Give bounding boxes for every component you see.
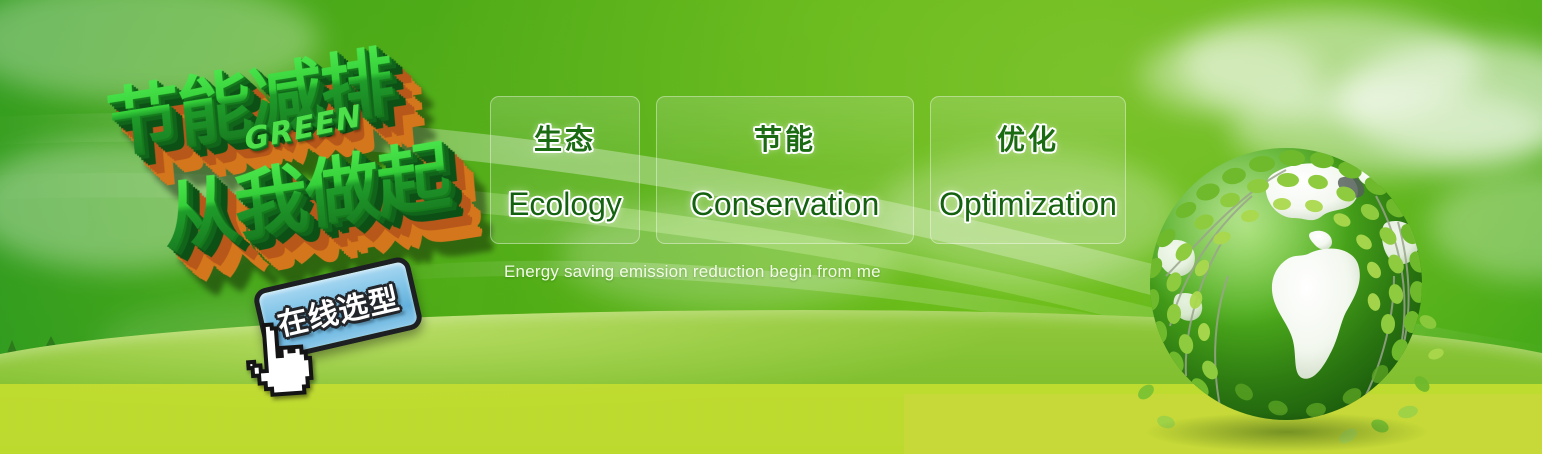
feature-card-cn-label: 生态 xyxy=(534,118,596,158)
feature-card-conservation[interactable]: 节能 Conservation xyxy=(656,96,914,244)
globe-icon xyxy=(1126,126,1446,446)
leafy-green-globe xyxy=(1126,126,1446,446)
feature-card-en-label: Conservation xyxy=(691,186,880,223)
feature-card-list: 生态 Ecology 节能 Conservation 优化 Optimizati… xyxy=(490,96,1126,244)
pointing-hand-cursor-icon xyxy=(241,316,321,403)
feature-card-cn-label: 节能 xyxy=(754,118,816,158)
feature-card-en-label: Ecology xyxy=(508,186,622,223)
eco-banner: 节能减排 GREEN 从我做起 在线选型 生态 Ecology 节能 Conse… xyxy=(0,0,1542,454)
banner-tagline: Energy saving emission reduction begin f… xyxy=(504,262,881,282)
feature-card-cn-label: 优化 xyxy=(997,118,1059,158)
globe-shadow xyxy=(1144,412,1430,452)
feature-card-ecology[interactable]: 生态 Ecology xyxy=(490,96,640,244)
headline-3d-art: 节能减排 GREEN 从我做起 xyxy=(86,17,495,290)
feature-card-en-label: Optimization xyxy=(939,186,1117,223)
feature-card-optimization[interactable]: 优化 Optimization xyxy=(930,96,1126,244)
